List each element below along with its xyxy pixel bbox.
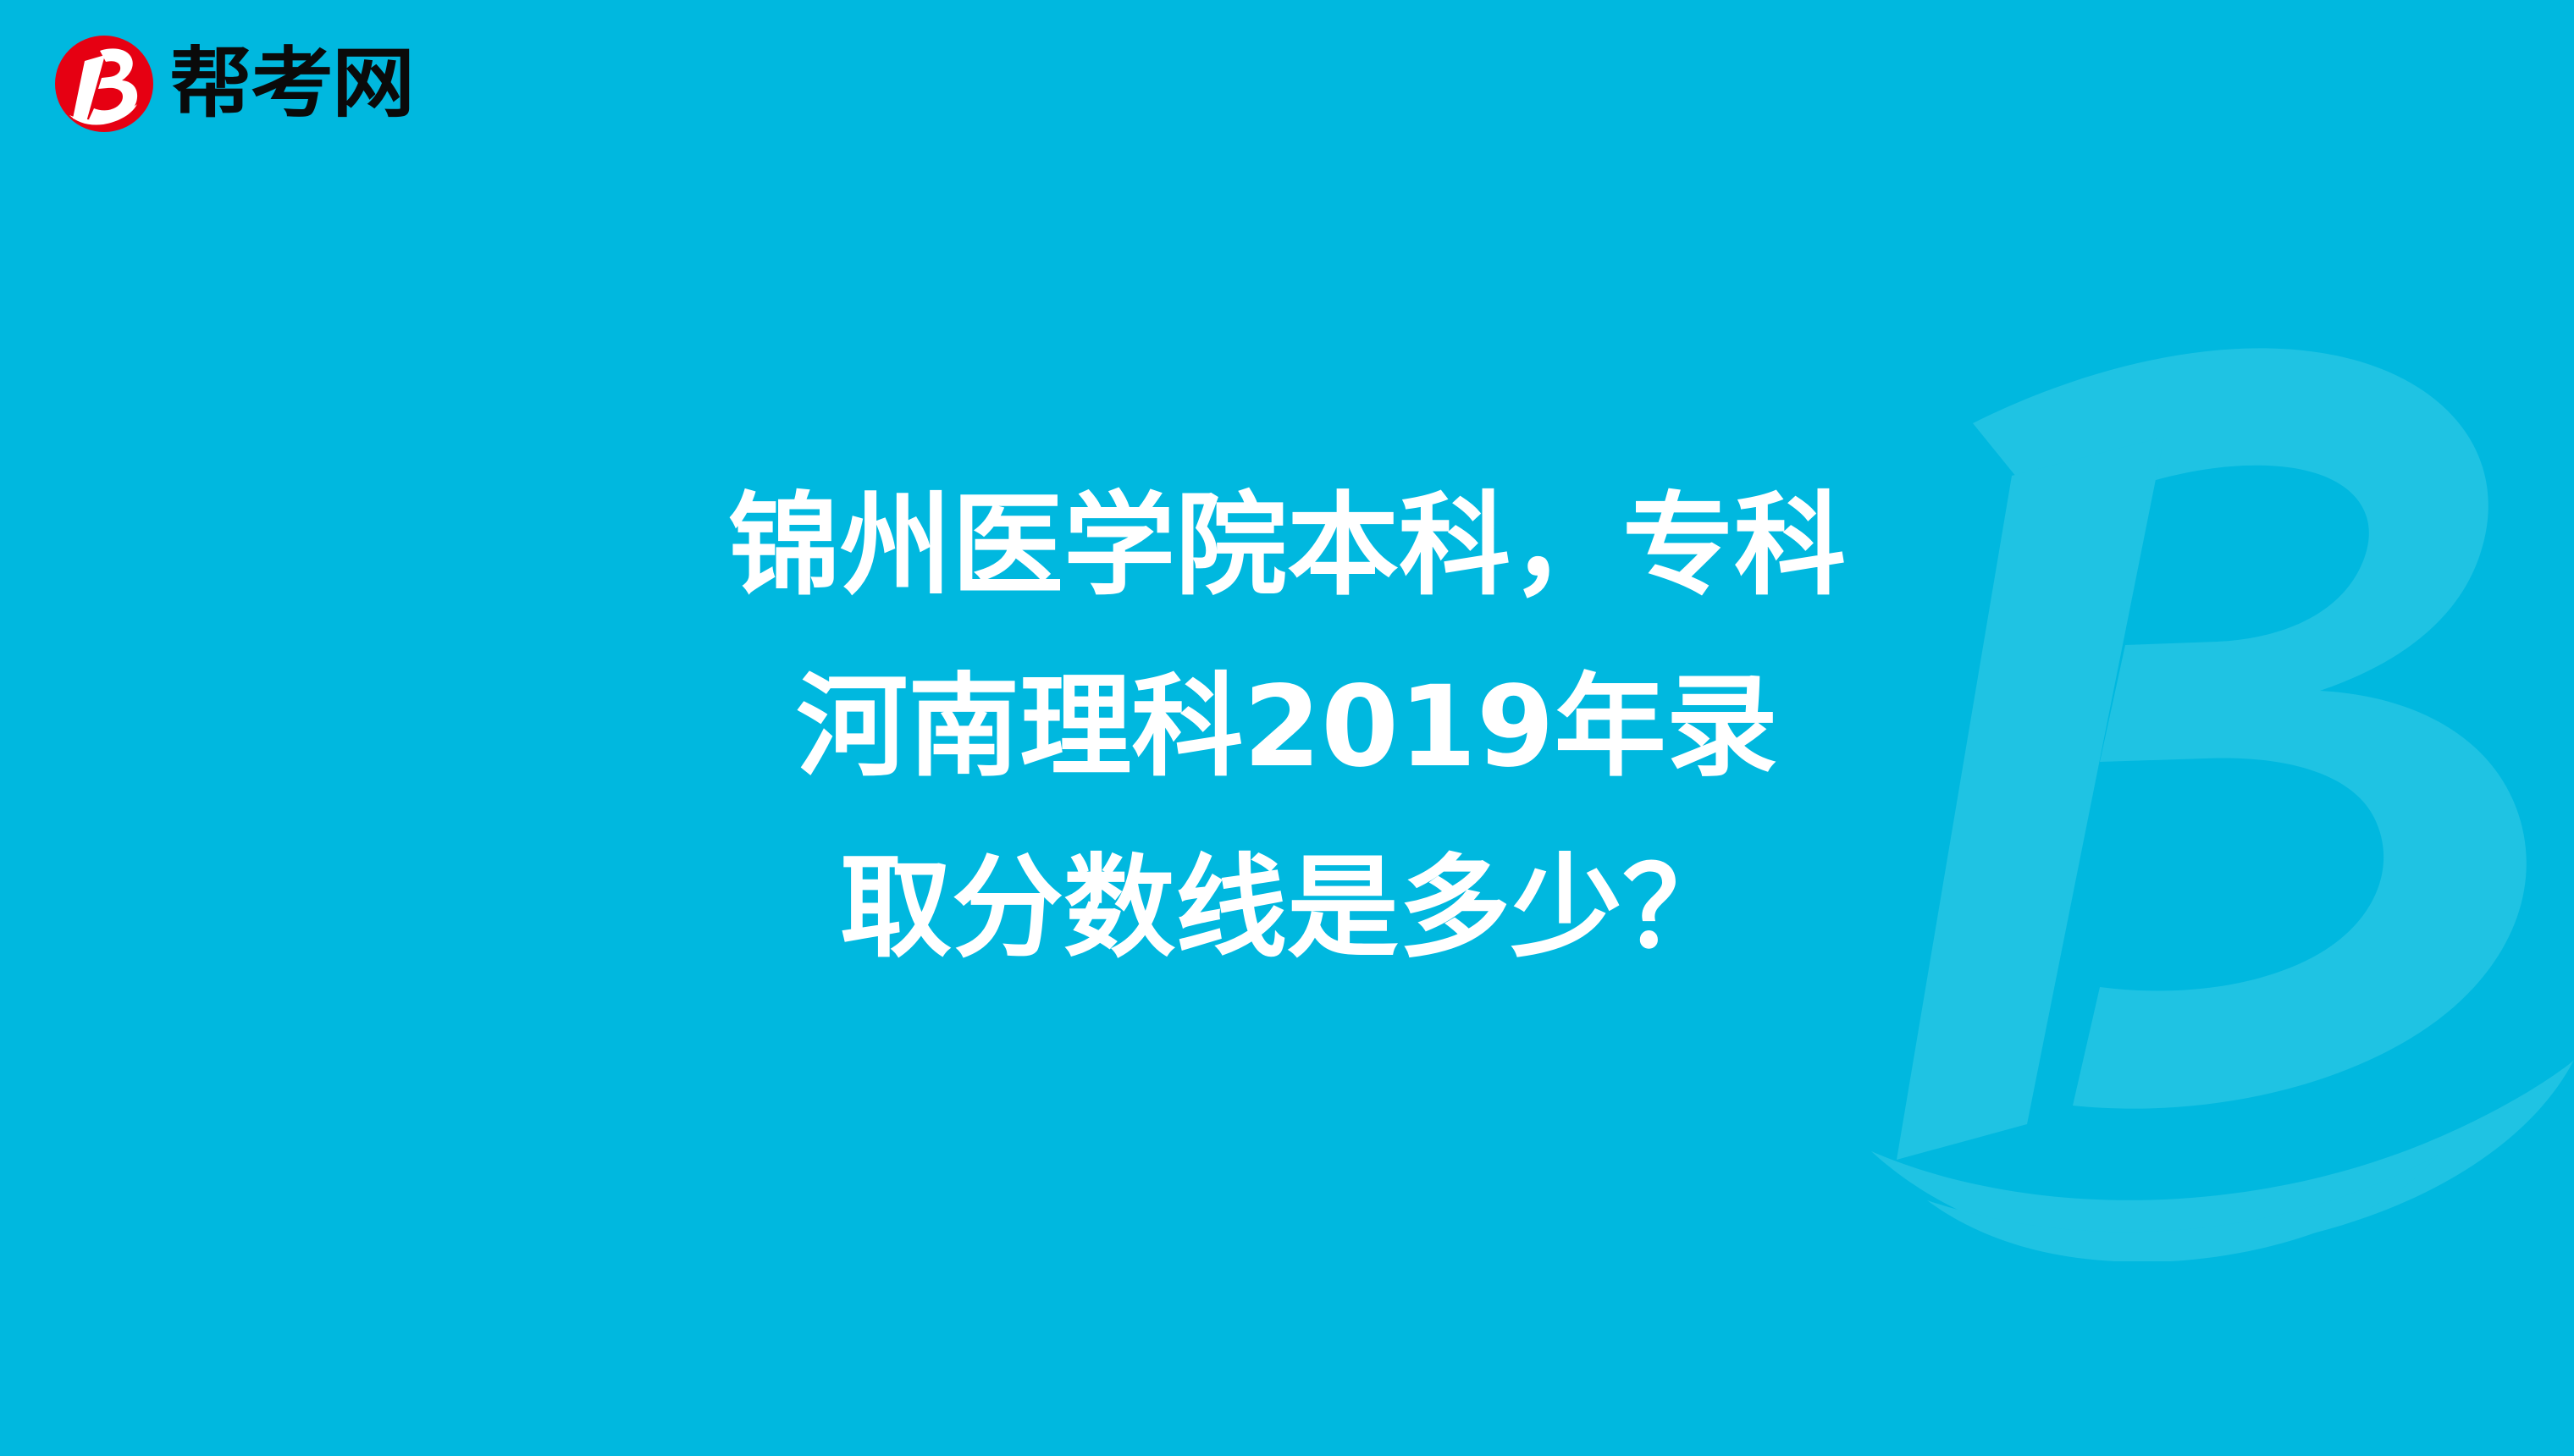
headline-line-3: 取分数线是多少？	[440, 819, 2134, 1000]
headline-line-1: 锦州医学院本科，专科	[440, 456, 2134, 637]
headline-block: 锦州医学院本科，专科 河南理科2019年录 取分数线是多少？	[0, 0, 2574, 1456]
headline-text: 锦州医学院本科，专科 河南理科2019年录 取分数线是多少？	[440, 456, 2134, 999]
page-root: 帮考网 锦州医学院本科，专科 河南理科2019年录 取分数线是多少？	[0, 0, 2574, 1456]
brand-logo[interactable]: 帮考网	[52, 32, 413, 135]
bangkao-b-logo-icon	[52, 32, 156, 135]
headline-line-2: 河南理科2019年录	[440, 637, 2134, 819]
brand-name-text: 帮考网	[169, 46, 413, 122]
